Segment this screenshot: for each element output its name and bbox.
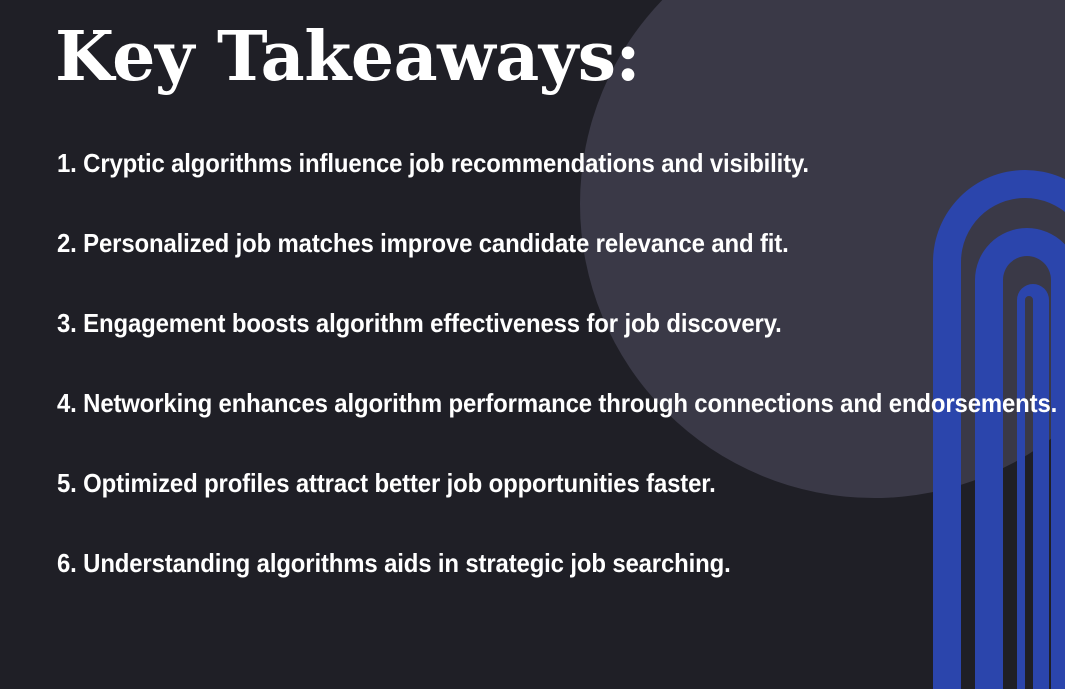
list-item: 2. Personalized job matches improve cand…	[57, 228, 1065, 308]
list-item: 1. Cryptic algorithms influence job reco…	[57, 148, 1065, 228]
list-item: 6. Understanding algorithms aids in stra…	[57, 548, 1065, 628]
takeaways-list: 1. Cryptic algorithms influence job reco…	[57, 148, 1065, 628]
list-item: 5. Optimized profiles attract better job…	[57, 468, 1065, 548]
takeaway-text-2: 2. Personalized job matches improve cand…	[57, 228, 789, 258]
takeaway-text-6: 6. Understanding algorithms aids in stra…	[57, 548, 731, 578]
list-item: 3. Engagement boosts algorithm effective…	[57, 308, 1065, 388]
list-item: 4. Networking enhances algorithm perform…	[57, 388, 1065, 468]
slide-canvas: Key Takeaways: 1. Cryptic algorithms inf…	[0, 0, 1065, 689]
slide-content: Key Takeaways: 1. Cryptic algorithms inf…	[0, 0, 1065, 689]
takeaway-text-3: 3. Engagement boosts algorithm effective…	[57, 308, 782, 338]
takeaway-text-1: 1. Cryptic algorithms influence job reco…	[57, 148, 809, 178]
takeaway-text-4: 4. Networking enhances algorithm perform…	[57, 388, 1057, 418]
page-title: Key Takeaways:	[55, 22, 640, 93]
takeaway-text-5: 5. Optimized profiles attract better job…	[57, 468, 716, 498]
